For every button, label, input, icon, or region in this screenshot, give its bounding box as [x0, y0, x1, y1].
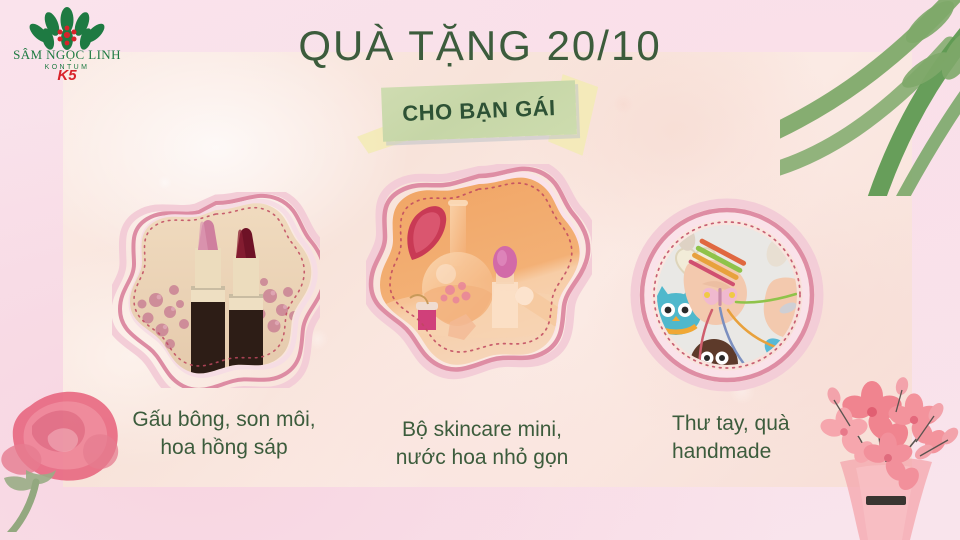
scalloped-frame [112, 192, 320, 388]
caption-line-2: handmade [672, 438, 872, 466]
circular-frame [628, 198, 826, 392]
card-image-handmade [628, 198, 826, 392]
caption-line-1: Bộ skincare mini, [366, 416, 598, 444]
caption-line-2: nước hoa nhỏ gọn [366, 444, 598, 472]
page-title: QUÀ TẶNG 20/10 [0, 22, 960, 70]
banner-plate: CHO BẠN GÁI [381, 80, 577, 141]
caption-line-1: Gấu bông, son môi, [106, 406, 342, 434]
caption-handmade: Thư tay, quà handmade [672, 410, 872, 467]
scalloped-frame [366, 164, 592, 386]
caption-skincare: Bộ skincare mini, nước hoa nhỏ gọn [366, 416, 598, 473]
caption-line-2: hoa hồng sáp [106, 434, 342, 462]
caption-lipstick: Gấu bông, son môi, hoa hồng sáp [106, 406, 342, 463]
slide-canvas: SÂM NGỌC LINH KONTUM K5 QUÀ TẶNG 20/10 C… [0, 0, 960, 540]
banner-label: CHO BẠN GÁI [402, 95, 556, 127]
card-skincare[interactable] [366, 164, 592, 386]
subtitle-banner: CHO BẠN GÁI [376, 84, 582, 146]
caption-line-1: Thư tay, quà [672, 410, 872, 438]
card-lipstick[interactable] [112, 192, 320, 388]
card-handmade[interactable] [628, 198, 826, 392]
